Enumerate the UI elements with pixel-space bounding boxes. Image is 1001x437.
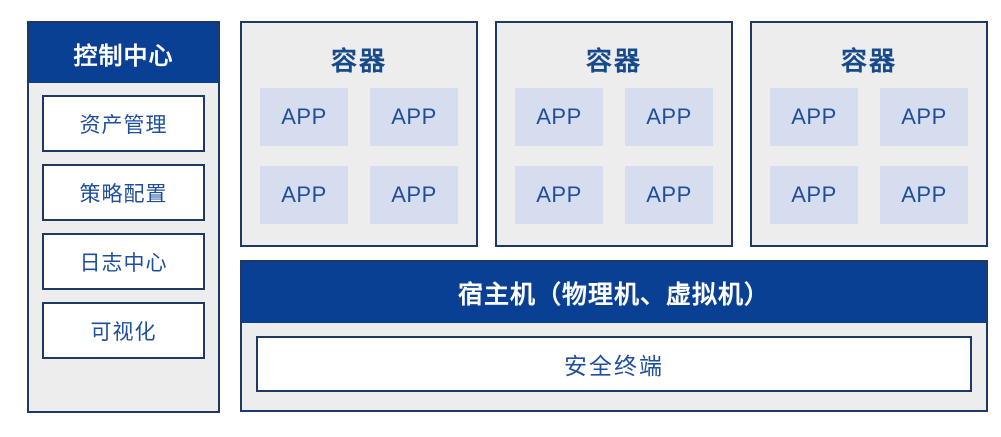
container-box-2: 容器 APP APP APP APP xyxy=(495,21,733,247)
host-machine-panel: 宿主机（物理机、虚拟机） 安全终端 xyxy=(240,260,988,412)
app-label: APP xyxy=(791,182,837,208)
control-item-log-center[interactable]: 日志中心 xyxy=(42,233,205,290)
app-label: APP xyxy=(536,104,582,130)
app-label: APP xyxy=(281,104,327,130)
app-box[interactable]: APP xyxy=(260,88,348,146)
app-label: APP xyxy=(536,182,582,208)
app-box[interactable]: APP xyxy=(370,166,458,224)
control-center-panel: 控制中心 资产管理 策略配置 日志中心 可视化 xyxy=(27,21,220,413)
control-center-header: 控制中心 xyxy=(29,23,218,83)
app-box[interactable]: APP xyxy=(260,166,348,224)
app-label: APP xyxy=(281,182,327,208)
host-machine-body: 安全终端 xyxy=(242,323,986,405)
app-box[interactable]: APP xyxy=(880,88,968,146)
app-label: APP xyxy=(901,182,947,208)
control-item-label: 策略配置 xyxy=(80,178,168,208)
container-title: 容器 xyxy=(586,41,642,78)
app-label: APP xyxy=(646,104,692,130)
app-label: APP xyxy=(901,104,947,130)
app-box[interactable]: APP xyxy=(625,166,713,224)
control-center-item-list: 资产管理 策略配置 日志中心 可视化 xyxy=(29,83,218,371)
container-title: 容器 xyxy=(841,41,897,78)
app-label: APP xyxy=(646,182,692,208)
app-label: APP xyxy=(391,104,437,130)
control-item-asset-management[interactable]: 资产管理 xyxy=(42,95,205,152)
security-endpoint-label: 安全终端 xyxy=(564,347,664,381)
security-endpoint-box[interactable]: 安全终端 xyxy=(256,336,972,392)
app-label: APP xyxy=(391,182,437,208)
architecture-diagram: 控制中心 资产管理 策略配置 日志中心 可视化 容器 APP xyxy=(0,0,1001,437)
container-title: 容器 xyxy=(331,41,387,78)
app-box[interactable]: APP xyxy=(770,88,858,146)
app-box[interactable]: APP xyxy=(880,166,968,224)
app-grid: APP APP APP APP xyxy=(260,88,458,224)
host-machine-header: 宿主机（物理机、虚拟机） xyxy=(242,262,986,323)
app-label: APP xyxy=(791,104,837,130)
app-box[interactable]: APP xyxy=(515,166,603,224)
app-box[interactable]: APP xyxy=(370,88,458,146)
app-box[interactable]: APP xyxy=(515,88,603,146)
containers-row: 容器 APP APP APP APP 容器 APP xyxy=(240,21,988,247)
app-box[interactable]: APP xyxy=(625,88,713,146)
control-item-label: 日志中心 xyxy=(80,247,168,277)
app-grid: APP APP APP APP xyxy=(770,88,968,224)
container-box-1: 容器 APP APP APP APP xyxy=(240,21,478,247)
control-item-policy-configuration[interactable]: 策略配置 xyxy=(42,164,205,221)
control-item-label: 可视化 xyxy=(91,316,157,346)
control-item-label: 资产管理 xyxy=(80,109,168,139)
control-item-visualization[interactable]: 可视化 xyxy=(42,302,205,359)
app-box[interactable]: APP xyxy=(770,166,858,224)
container-box-3: 容器 APP APP APP APP xyxy=(750,21,988,247)
app-grid: APP APP APP APP xyxy=(515,88,713,224)
